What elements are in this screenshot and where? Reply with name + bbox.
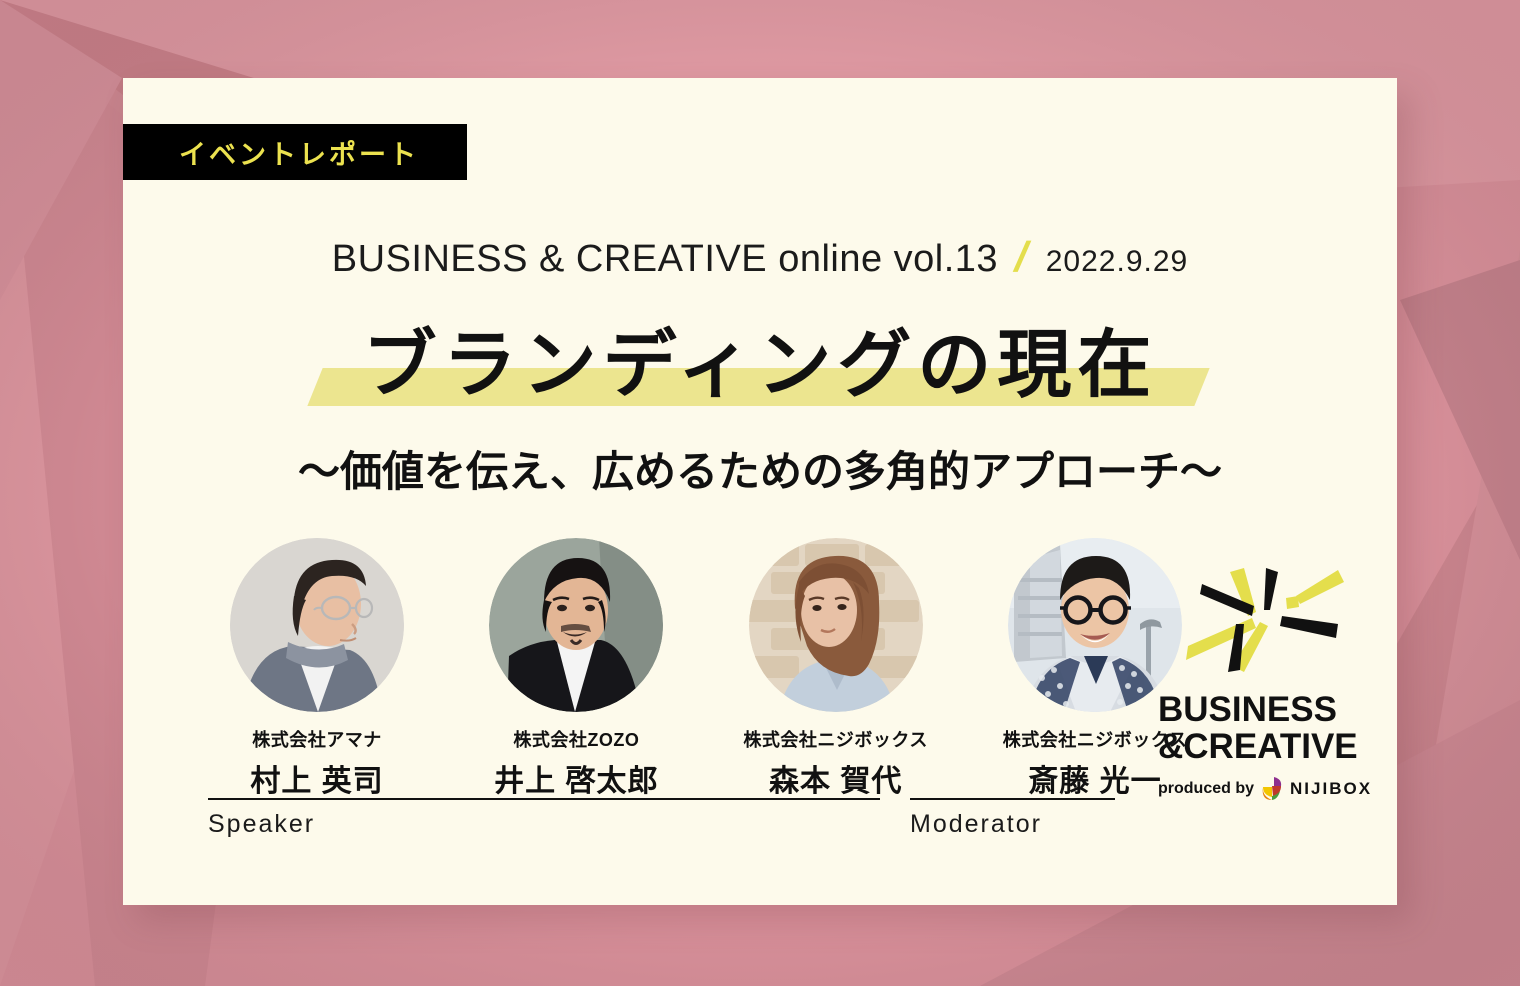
speaker-divider — [208, 798, 880, 800]
avatar — [230, 538, 404, 712]
produced-by-label: produced by — [1158, 780, 1254, 798]
speaker-name: 井上 啓太郎 — [494, 756, 658, 800]
speaker-company: 株式会社ニジボックス — [743, 726, 927, 752]
speaker-card: 株式会社ZOZO 井上 啓太郎 — [460, 538, 692, 800]
brand-logo-block: BUSINESS &CREATIVE produced by NIJIBOX — [1158, 560, 1373, 802]
brand-line-1: BUSINESS — [1158, 690, 1337, 729]
speaker-name: 村上 英司 — [250, 756, 383, 800]
speaker-card: 株式会社アマナ 村上 英司 — [201, 538, 433, 800]
speaker-company: 株式会社アマナ — [252, 726, 382, 752]
report-card: イベントレポート BUSINESS & CREATIVE online vol.… — [123, 78, 1397, 905]
page-subtitle: 〜価値を伝え、広めるための多角的アプローチ〜 — [123, 438, 1397, 499]
slash-separator-icon: / — [1011, 236, 1033, 278]
moderator-role-label: Moderator — [910, 810, 1042, 839]
producer-name: NIJIBOX — [1290, 779, 1372, 799]
avatar — [749, 538, 923, 712]
event-date: 2022.9.29 — [1046, 245, 1188, 279]
badge-label: イベントレポート — [179, 133, 419, 172]
event-series-title: BUSINESS & CREATIVE online vol.13 — [332, 238, 998, 281]
speaker-company: 株式会社ZOZO — [513, 726, 639, 752]
event-report-badge: イベントレポート — [123, 124, 467, 180]
banner-stage: イベントレポート BUSINESS & CREATIVE online vol.… — [0, 0, 1520, 986]
produced-by-row: produced by NIJIBOX — [1158, 776, 1373, 802]
nijibox-logo-icon — [1261, 776, 1283, 802]
avatar — [1008, 538, 1182, 712]
speaker-list: 株式会社アマナ 村上 英司 — [201, 538, 1211, 800]
page-title: ブランディングの現在 — [363, 323, 1158, 406]
moderator-divider — [910, 798, 1115, 800]
speaker-name: 斎藤 光一 — [1028, 756, 1161, 800]
brand-wordmark: BUSINESS &CREATIVE — [1158, 692, 1373, 766]
avatar — [489, 538, 663, 712]
brand-line-2: &CREATIVE — [1158, 729, 1373, 766]
event-meta-line: BUSINESS & CREATIVE online vol.13 / 2022… — [123, 236, 1397, 281]
speaker-role-label: Speaker — [208, 810, 315, 839]
main-title-block: ブランディングの現在 — [123, 310, 1397, 420]
starburst-icon — [1186, 560, 1346, 678]
speaker-card: 株式会社ニジボックス 森本 賀代 — [720, 538, 952, 800]
speaker-name: 森本 賀代 — [769, 756, 902, 800]
